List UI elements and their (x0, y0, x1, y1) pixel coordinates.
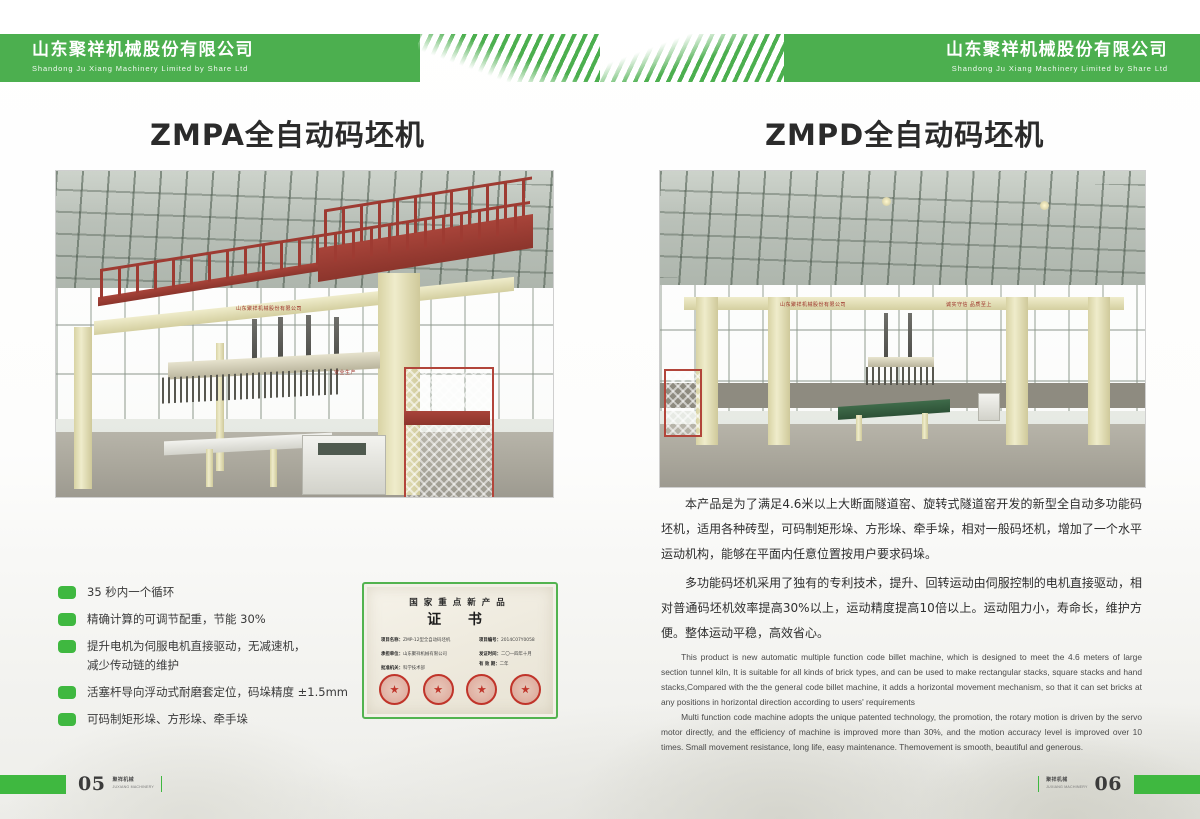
bullet-marker-icon (58, 613, 76, 626)
certificate-header: 国家重点新产品 (367, 596, 553, 608)
safety-fence (404, 367, 494, 498)
factory-scene-right: 山东聚祥机械股份有限公司 诚实守信 品质至上 (660, 171, 1145, 487)
hoist-rod-a (884, 313, 888, 361)
cert-label-0: 项目名称： (381, 638, 403, 643)
certificate-seals (379, 674, 541, 705)
feature-line-1a: 35 秒内一个循环 (87, 585, 174, 599)
cert-label-3: 发证时间： (479, 652, 501, 657)
lift-rod-a (252, 319, 257, 361)
footer-brand-cn-left: 聚祥机械 (112, 777, 153, 785)
gripper-marking-text: 安全生产 (334, 369, 356, 376)
list-item: 35 秒内一个循环 (58, 583, 358, 602)
bullet-marker-icon (58, 640, 76, 653)
hoist-rod-b (908, 313, 912, 361)
feature-list: 35 秒内一个循环 精确计算的可调节配重，节能 30% 提升电机为伺服电机直接驱… (58, 583, 358, 737)
factory-floor-r (660, 424, 1145, 487)
red-seal-stamp-icon (510, 674, 541, 705)
feature-line-2a: 精确计算的可调节配重，节能 30% (87, 612, 266, 626)
gantry-col-r2 (768, 297, 790, 445)
lift-rod-b (278, 317, 283, 361)
side-cabinet-r (978, 393, 1000, 421)
list-item: 精确计算的可调节配重，节能 30% (58, 610, 358, 629)
bullet-marker-icon (58, 686, 76, 699)
gantry-col-r3 (1006, 297, 1028, 445)
brand-name-en-right: Shandong Ju Xiang Machinery Limited by S… (946, 63, 1168, 74)
green-conveyor-leg-b (922, 413, 928, 439)
paragraph-cn-2: 多功能码坯机采用了独有的专利技术，提升、回转运动由伺服控制的电机直接驱动，相对普… (661, 571, 1142, 646)
brand-block-left: 山东聚祥机械股份有限公司 Shandong Ju Xiang Machinery… (32, 40, 254, 74)
cert-label-5: 有 效 期： (479, 662, 500, 667)
description-block: 本产品是为了满足4.6米以上大断面隧道窑、旋转式隧道窑开发的新型全自动多功能码坯… (661, 492, 1142, 755)
red-seal-stamp-icon (379, 674, 410, 705)
beam-marking-text-r: 山东聚祥机械股份有限公司 (780, 301, 846, 308)
gantry-beam-r (684, 297, 1124, 310)
roof-purlins-r (660, 184, 1145, 279)
certificate-field-validity: 有 效 期：二年 (479, 661, 508, 667)
footer-meta-left: 聚祥机械 JUXIANG MACHINERY (105, 777, 160, 792)
certificate-field-authority: 批准机关：科学技术部 (381, 665, 425, 671)
bullet-marker-icon (58, 713, 76, 726)
brand-block-right: 山东聚祥机械股份有限公司 Shandong Ju Xiang Machinery… (946, 40, 1168, 74)
footer-brand-en-left: JUXIANG MACHINERY (112, 784, 153, 792)
certificate-field-project-name: 项目名称：ZMP-12型全自动码坯机 (381, 637, 450, 643)
hmi-screen (318, 443, 366, 455)
feature-text-5: 可码制矩形垛、方形垛、牵手垛 (87, 710, 248, 729)
header-banner-left: 山东聚祥机械股份有限公司 Shandong Ju Xiang Machinery… (0, 34, 600, 82)
certificate-field-company: 承担单位：山东聚祥机械有限公司 (381, 651, 447, 657)
product-photo-zmpd: 山东聚祥机械股份有限公司 诚实守信 品质至上 (659, 170, 1146, 488)
green-conveyor-leg-a (856, 415, 862, 441)
paragraph-cn-1: 本产品是为了满足4.6米以上大断面隧道窑、旋转式隧道窑开发的新型全自动多功能码坯… (661, 492, 1142, 567)
paragraph-en-2: Multi function code machine adopts the u… (661, 710, 1142, 755)
feature-line-3b: 减少传动链的维护 (87, 656, 306, 675)
fence-crossbar (404, 411, 490, 425)
footer-left: 05 聚祥机械 JUXIANG MACHINERY (0, 771, 162, 797)
cert-value-3: 二〇一四年十月 (501, 652, 532, 657)
feature-text-3: 提升电机为伺服电机直接驱动，无减速机， 减少传动链的维护 (87, 637, 306, 675)
gripper-fingers-r (866, 367, 936, 385)
certificate-title: 证 书 (367, 609, 553, 629)
safety-fence-r (664, 369, 702, 437)
cert-label-4: 批准机关： (381, 666, 403, 671)
bullet-marker-icon (58, 586, 76, 599)
cert-label-2: 承担单位： (381, 652, 403, 657)
gantry-col-r4 (1088, 297, 1110, 445)
gripper-head-r (868, 357, 934, 367)
paragraph-en-1: This product is new automatic multiple f… (661, 650, 1142, 710)
feature-line-3a: 提升电机为伺服电机直接驱动，无减速机， (87, 639, 306, 653)
cert-label-1: 项目编号： (479, 638, 501, 643)
header-hatch-left (418, 34, 600, 82)
feature-text-1: 35 秒内一个循环 (87, 583, 174, 602)
gantry-column-left (74, 327, 92, 489)
feature-text-4: 活塞杆导向浮动式耐磨套定位，码垛精度 ±1.5mm (87, 683, 348, 702)
header-banner-right: 山东聚祥机械股份有限公司 Shandong Ju Xiang Machinery… (600, 34, 1200, 82)
footer-brand-en-right: JUXIANG MACHINERY (1046, 784, 1087, 792)
footer-right: 聚祥机械 JUXIANG MACHINERY 06 (1038, 771, 1200, 797)
footer-divider-left (161, 776, 162, 792)
page-title-right: ZMPD全自动码坯机 (765, 112, 1044, 154)
page-number-left: 05 (78, 773, 105, 795)
footer-green-bar-right (1134, 775, 1200, 794)
list-item: 提升电机为伺服电机直接驱动，无减速机， 减少传动链的维护 (58, 637, 358, 675)
cert-value-2: 山东聚祥机械有限公司 (403, 652, 447, 657)
brand-name-cn-right: 山东聚祥机械股份有限公司 (946, 40, 1168, 61)
brand-name-cn-left: 山东聚祥机械股份有限公司 (32, 40, 254, 61)
cert-value-0: ZMP-12型全自动码坯机 (403, 638, 450, 643)
feature-line-4a: 活塞杆导向浮动式耐磨套定位，码垛精度 ±1.5mm (87, 685, 348, 699)
page-title-left: ZMPA全自动码坯机 (150, 112, 425, 154)
footer-meta-right: 聚祥机械 JUXIANG MACHINERY (1039, 777, 1094, 792)
factory-scene-left: 山东聚祥机械股份有限公司 安全生产 (56, 171, 553, 497)
brochure-spread: 山东聚祥机械股份有限公司 Shandong Ju Xiang Machinery… (0, 0, 1200, 819)
footer-brand-cn-right: 聚祥机械 (1046, 777, 1087, 785)
feature-text-2: 精确计算的可调节配重，节能 30% (87, 610, 266, 629)
page-number-right: 06 (1095, 773, 1122, 795)
cert-value-1: 2014C07Y0058 (501, 638, 535, 643)
beam-marking-text: 山东聚祥机械股份有限公司 (236, 305, 302, 312)
cert-value-5: 二年 (500, 662, 509, 667)
ceiling-lamp-a (882, 197, 891, 206)
brand-name-en-left: Shandong Ju Xiang Machinery Limited by S… (32, 63, 254, 74)
certificate-field-issue-date: 发证时间：二〇一四年十月 (479, 651, 532, 657)
header-hatch-right (600, 34, 784, 82)
list-item: 可码制矩形垛、方形垛、牵手垛 (58, 710, 358, 729)
ceiling-lamp-b (1040, 201, 1049, 210)
feature-line-5a: 可码制矩形垛、方形垛、牵手垛 (87, 712, 248, 726)
cert-value-4: 科学技术部 (403, 666, 425, 671)
product-photo-zmpa: 山东聚祥机械股份有限公司 安全生产 (55, 170, 554, 498)
conveyor-leg-b (270, 449, 277, 487)
certificate-paper: 国家重点新产品 证 书 项目名称：ZMP-12型全自动码坯机 项目编号：2014… (367, 587, 553, 714)
red-seal-stamp-icon (423, 674, 454, 705)
certificate-image: 国家重点新产品 证 书 项目名称：ZMP-12型全自动码坯机 项目编号：2014… (362, 582, 558, 719)
beam-slogan-text-r: 诚实守信 品质至上 (946, 301, 992, 308)
window-mullion-r-a (660, 329, 1145, 331)
certificate-field-project-no: 项目编号：2014C07Y0058 (479, 637, 535, 643)
conveyor-leg-a (206, 449, 213, 487)
red-seal-stamp-icon (466, 674, 497, 705)
list-item: 活塞杆导向浮动式耐磨套定位，码垛精度 ±1.5mm (58, 683, 358, 702)
footer-green-bar-left (0, 775, 66, 794)
